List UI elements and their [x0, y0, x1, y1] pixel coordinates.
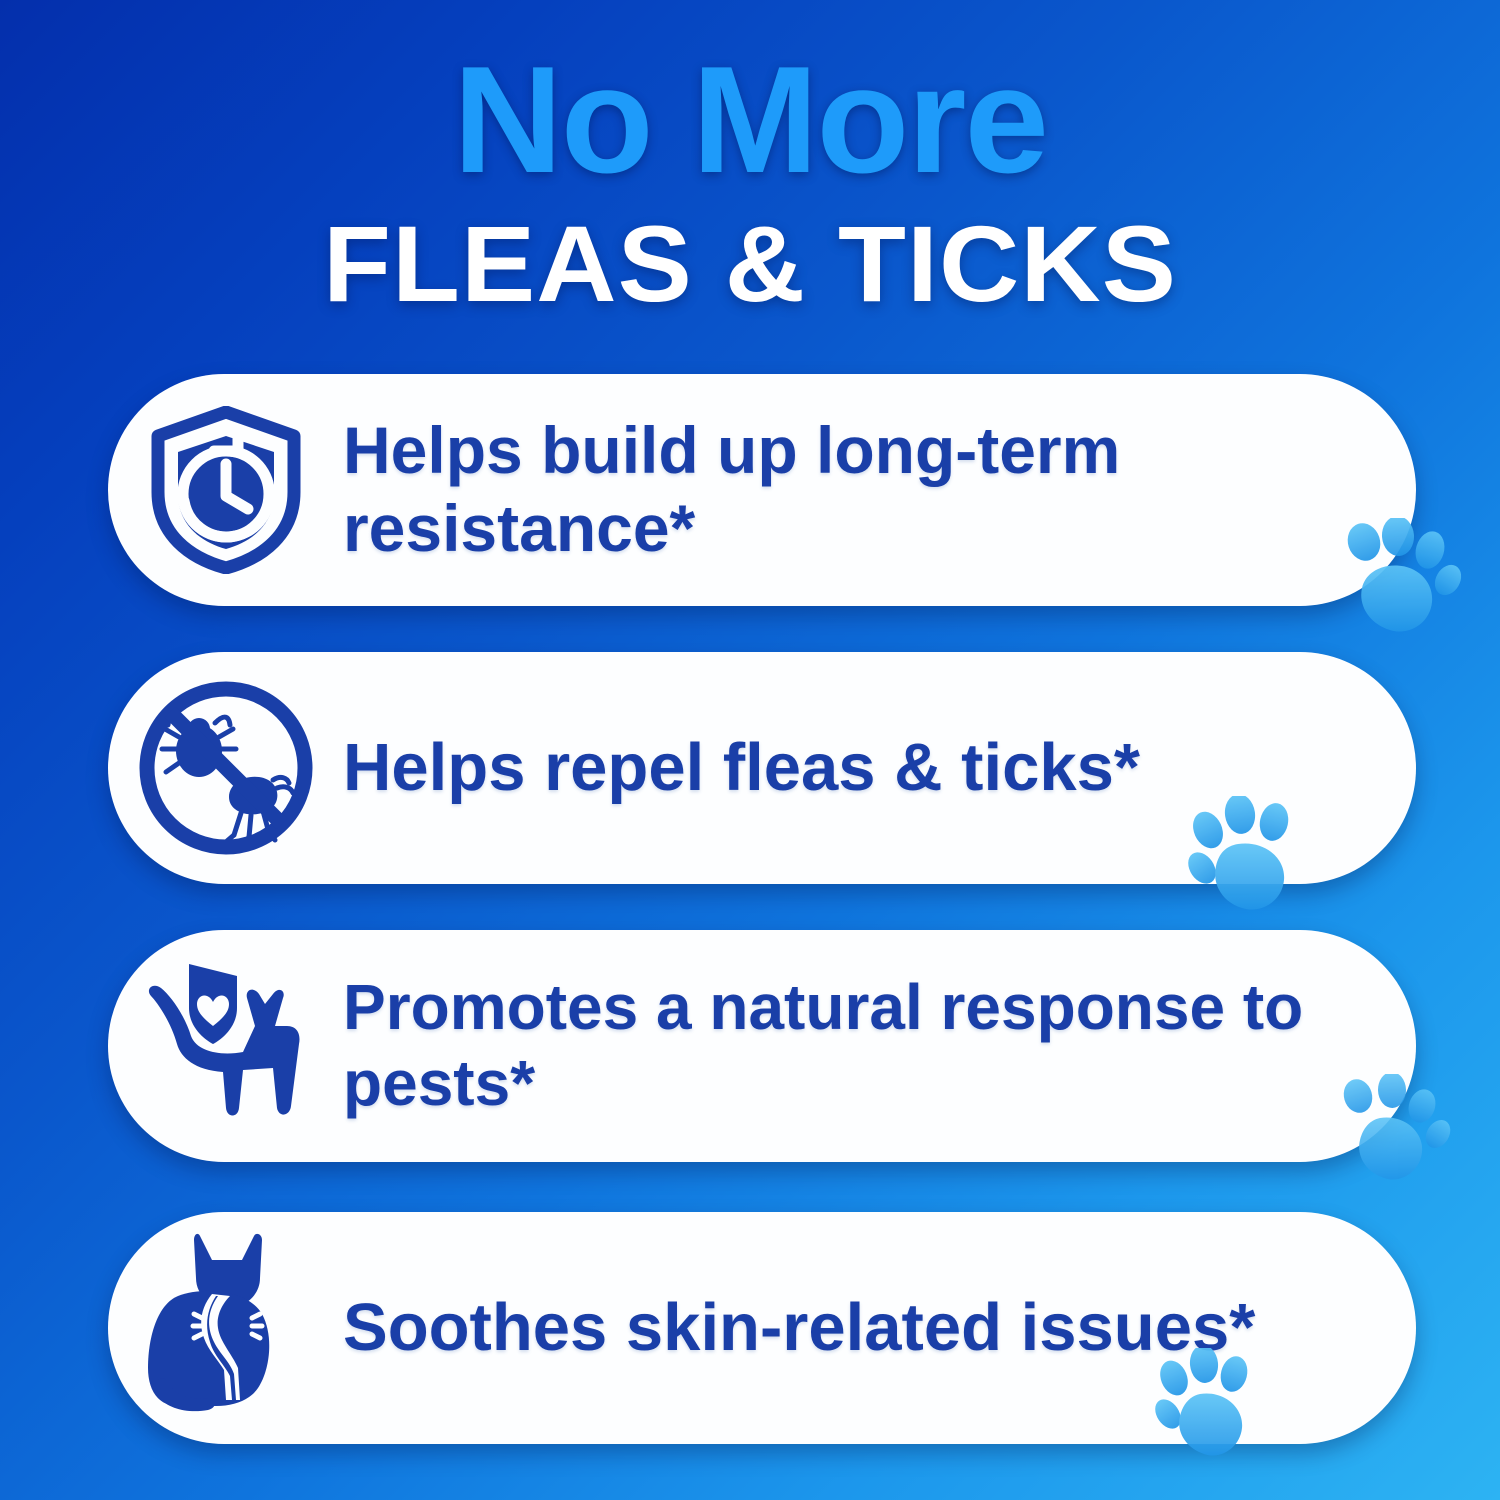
- cat-scratching-icon: [108, 1230, 343, 1426]
- headline-block: No More FLEAS & TICKS: [0, 44, 1500, 318]
- promo-poster: No More FLEAS & TICKS Helps build up lon…: [0, 0, 1500, 1500]
- shield-clock-icon: [108, 406, 343, 574]
- benefit-card-3: Promotes a natural response to pests*: [108, 930, 1416, 1162]
- benefit-card-1-label: Helps build up long-term resistance*: [343, 412, 1416, 568]
- no-fleas-ticks-icon: [108, 679, 343, 857]
- headline-primary: No More: [0, 44, 1500, 196]
- cat-shield-heart-icon: [108, 956, 343, 1136]
- benefit-card-3-label: Promotes a natural response to pests*: [343, 970, 1416, 1121]
- benefit-card-2-label: Helps repel fleas & ticks*: [343, 728, 1416, 807]
- benefit-card-1: Helps build up long-term resistance*: [108, 374, 1416, 606]
- benefit-card-4: Soothes skin-related issues*: [108, 1212, 1416, 1444]
- headline-secondary: FLEAS & TICKS: [0, 210, 1500, 318]
- benefit-card-2: Helps repel fleas & ticks*: [108, 652, 1416, 884]
- benefit-card-4-label: Soothes skin-related issues*: [343, 1288, 1416, 1367]
